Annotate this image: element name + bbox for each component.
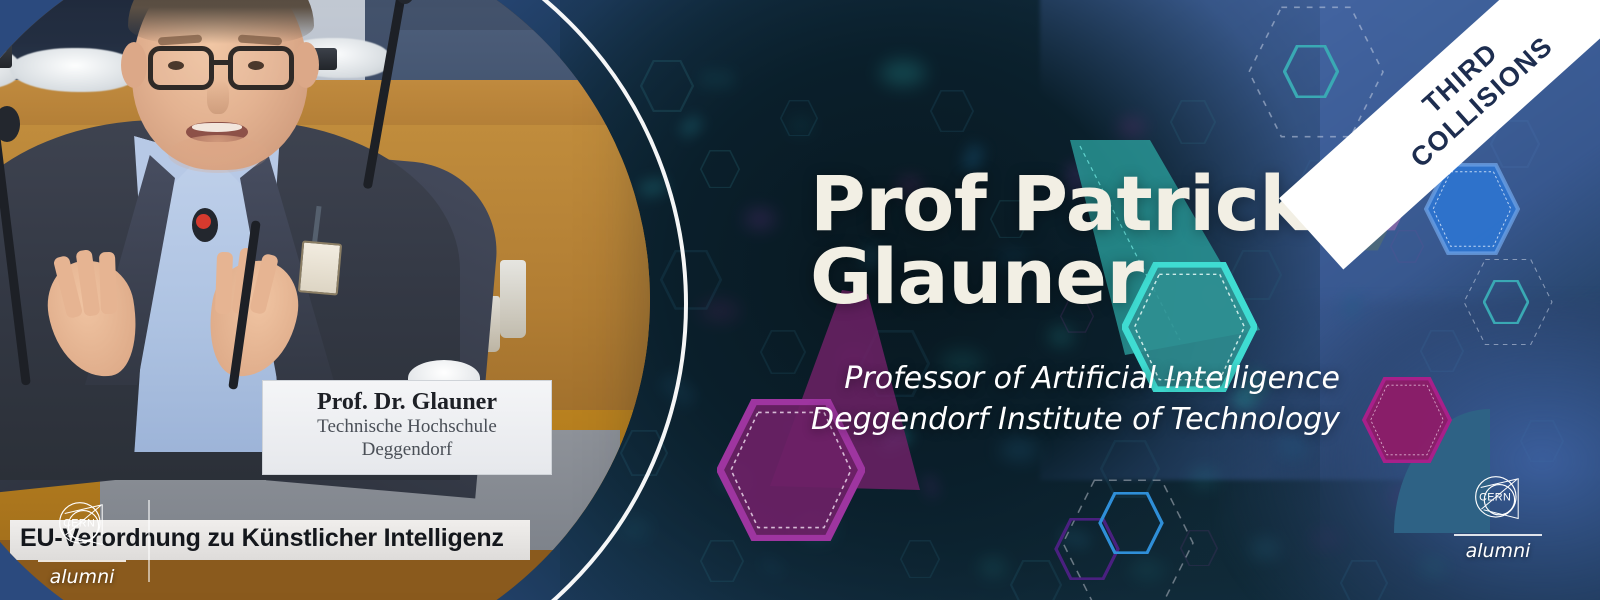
- subtitle-line-2: Deggendorf Institute of Technology: [810, 399, 1340, 440]
- hexagon-teal-outline-right: [1483, 280, 1529, 324]
- speaker-banner: Prof. Dr. Glauner Technische Hochschule …: [0, 0, 1600, 600]
- cern-logo-icon: CERN: [45, 494, 119, 556]
- title-line-2: Glauner: [810, 241, 1470, 314]
- logo-vertical-divider: [148, 500, 150, 582]
- logo-divider: [1454, 534, 1542, 536]
- logo-divider: [38, 560, 126, 562]
- cern-wordmark: CERN: [63, 517, 95, 529]
- hexagon-teal-outline-top: [1283, 45, 1339, 98]
- cern-alumni-logo-right: CERN alumni: [1452, 468, 1544, 562]
- speaker-subtitle: Professor of Artificial Intelligence Deg…: [810, 358, 1340, 441]
- cern-alumni-label: alumni: [1452, 540, 1544, 562]
- hexagon-blue-small: [1098, 492, 1164, 554]
- cern-alumni-label: alumni: [36, 566, 128, 588]
- cern-wordmark: CERN: [1479, 491, 1511, 503]
- cern-alumni-logo-left: CERN alumni: [36, 494, 128, 588]
- subtitle-line-1: Professor of Artificial Intelligence: [810, 358, 1340, 399]
- cern-logo-icon: CERN: [1461, 468, 1535, 530]
